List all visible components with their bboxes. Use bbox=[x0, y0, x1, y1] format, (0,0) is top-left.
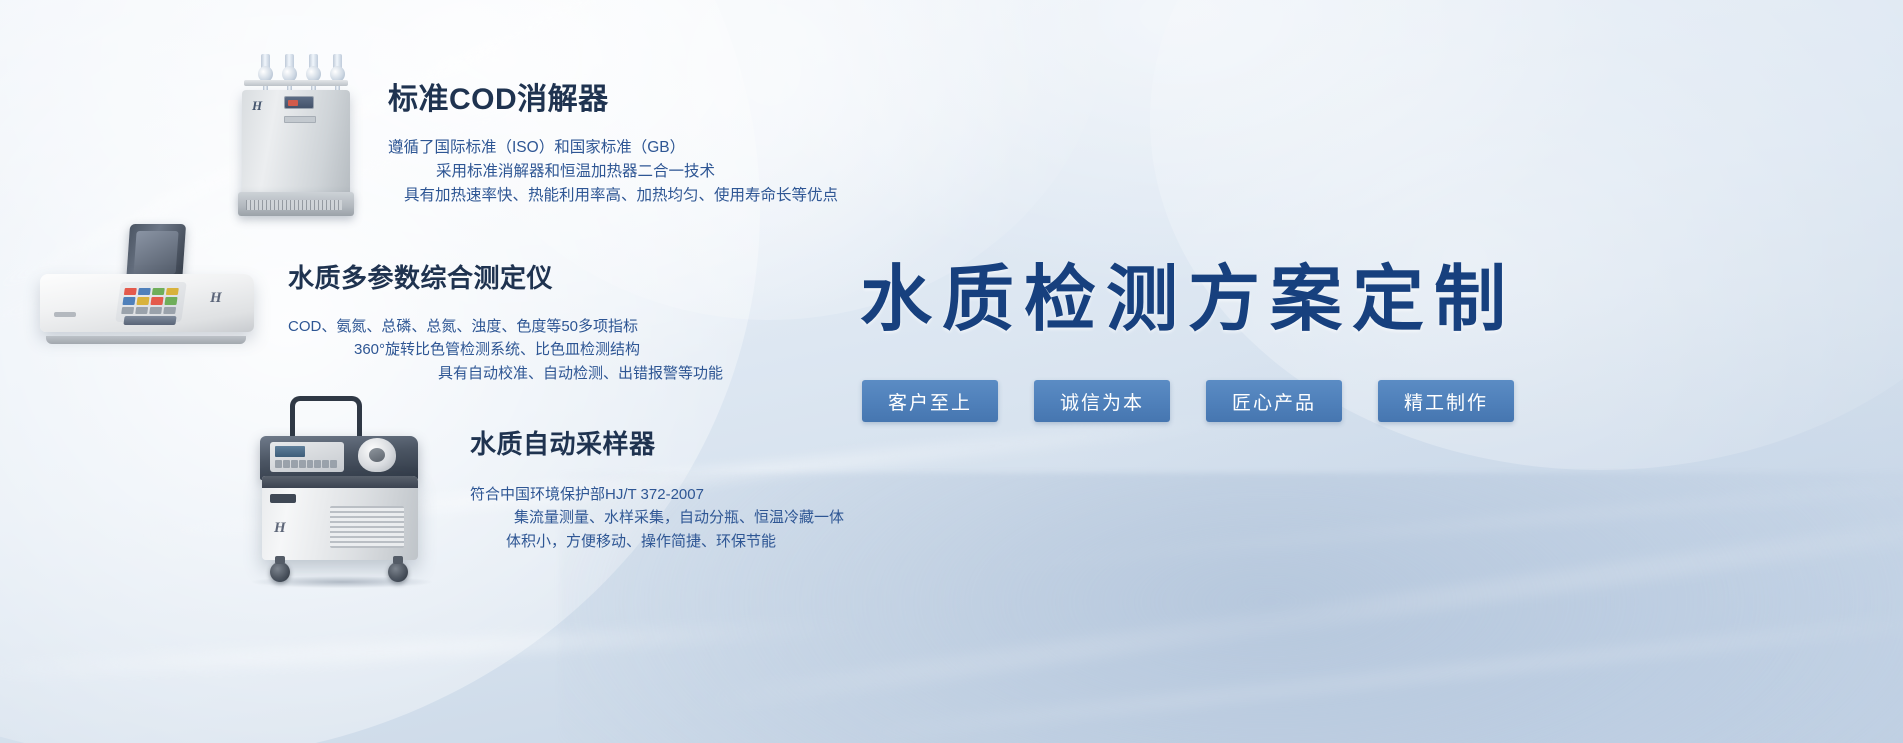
product-description: 遵循了国际标准（ISO）和国家标准（GB） 采用标准消解器和恒温加热器二合一技术… bbox=[388, 136, 838, 208]
sampler-display bbox=[275, 446, 305, 457]
sampler-vent-grille bbox=[330, 506, 404, 548]
product-description-line: 体积小，方便移动、操作简捷、环保节能 bbox=[470, 530, 844, 553]
product-description-line: 360°旋转比色管检测系统、比色皿检测结构 bbox=[288, 338, 723, 361]
brand-monogram: H bbox=[210, 290, 222, 307]
product-description-line: 遵循了国际标准（ISO）和国家标准（GB） bbox=[388, 136, 838, 160]
product-block-multi-parameter-analyzer: 水质多参数综合测定仪 COD、氨氮、总磷、总氮、浊度、色度等50多项指标 360… bbox=[288, 258, 723, 385]
multi-parameter-analyzer-photo: H bbox=[24, 228, 268, 340]
slogan-pill-craftsmanship[interactable]: 匠心产品 bbox=[1206, 380, 1342, 422]
analyzer-foot bbox=[46, 336, 246, 344]
product-block-cod-digester: 标准COD消解器 遵循了国际标准（ISO）和国家标准（GB） 采用标准消解器和恒… bbox=[388, 74, 838, 208]
banner-headline: 水质检测方案定制 bbox=[860, 240, 1516, 345]
sampler-keypad bbox=[275, 460, 337, 468]
brand-monogram: H bbox=[252, 98, 262, 114]
product-description-line: 具有自动校准、自动检测、出错报警等功能 bbox=[288, 362, 723, 385]
cod-digester-photo: H bbox=[236, 44, 356, 216]
product-title: 标准COD消解器 bbox=[388, 74, 838, 118]
analyzer-display bbox=[123, 316, 176, 325]
background-ribbon bbox=[705, 510, 1903, 713]
water-quality-banner: H H H bbox=[0, 0, 1903, 743]
digester-display bbox=[284, 96, 314, 109]
sampler-door-handle bbox=[270, 494, 296, 503]
auto-water-sampler-photo: H bbox=[246, 396, 436, 586]
slogan-pill-group: 客户至上 诚信为本 匠心产品 精工制作 bbox=[862, 380, 1514, 422]
product-description-line: 集流量测量、水样采集，自动分瓶、恒温冷藏一体 bbox=[470, 506, 844, 529]
drop-shadow bbox=[252, 576, 432, 588]
background-ribbon bbox=[0, 616, 870, 681]
product-description-line: COD、氨氮、总磷、总氮、浊度、色度等50多项指标 bbox=[288, 315, 723, 338]
background-ribbon bbox=[981, 477, 1903, 572]
digester-control-strip bbox=[284, 116, 316, 123]
brand-monogram: H bbox=[274, 520, 286, 537]
analyzer-port bbox=[54, 312, 76, 317]
product-description-line: 具有加热速率快、热能利用率高、加热均匀、使用寿命长等优点 bbox=[388, 184, 838, 208]
product-description: COD、氨氮、总磷、总氮、浊度、色度等50多项指标 360°旋转比色管检测系统、… bbox=[288, 315, 723, 385]
product-block-auto-water-sampler: 水质自动采样器 符合中国环境保护部HJ/T 372-2007 集流量测量、水样采… bbox=[470, 424, 844, 553]
sampler-cabinet-top bbox=[262, 476, 418, 488]
slogan-pill-integrity[interactable]: 诚信为本 bbox=[1034, 380, 1170, 422]
product-description-line: 符合中国环境保护部HJ/T 372-2007 bbox=[470, 483, 844, 506]
digester-rail bbox=[244, 80, 348, 86]
peristaltic-pump bbox=[358, 438, 396, 472]
background-ribbon bbox=[862, 611, 1903, 742]
slogan-pill-precision[interactable]: 精工制作 bbox=[1378, 380, 1514, 422]
product-title: 水质自动采样器 bbox=[470, 424, 844, 461]
slogan-pill-customer-first[interactable]: 客户至上 bbox=[862, 380, 998, 422]
product-title: 水质多参数综合测定仪 bbox=[288, 258, 723, 295]
digester-vent bbox=[246, 200, 342, 210]
analyzer-keypad bbox=[121, 288, 179, 314]
product-description-line: 采用标准消解器和恒温加热器二合一技术 bbox=[388, 160, 838, 184]
product-description: 符合中国环境保护部HJ/T 372-2007 集流量测量、水样采集，自动分瓶、恒… bbox=[470, 483, 844, 553]
